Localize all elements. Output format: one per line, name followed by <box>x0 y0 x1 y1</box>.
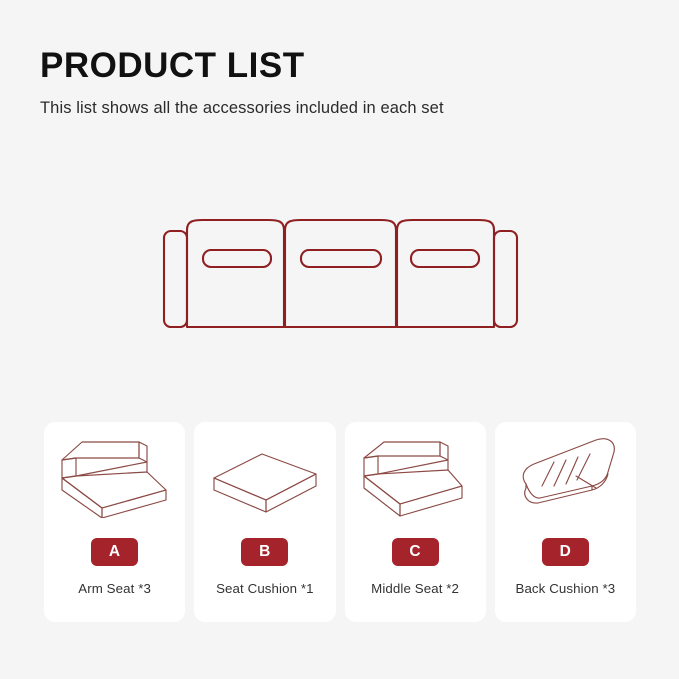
sofa-seat-cushion-1 <box>203 250 271 267</box>
badge-d: D <box>542 538 589 566</box>
sofa-seat-cushion-2 <box>301 250 381 267</box>
accessory-card-b[interactable]: B Seat Cushion *1 <box>194 422 335 622</box>
card-label-c: Middle Seat *2 <box>371 581 459 596</box>
badge-c: C <box>392 538 439 566</box>
sofa-diagram <box>0 190 679 360</box>
sofa-seat-section-1 <box>187 220 284 327</box>
header: PRODUCT LIST This list shows all the acc… <box>40 47 600 118</box>
sofa-armrest-right <box>494 231 517 327</box>
card-label-d: Back Cushion *3 <box>515 581 615 596</box>
page-subtitle: This list shows all the accessories incl… <box>40 99 600 118</box>
arm-seat-icon <box>44 422 185 522</box>
sofa-seat-section-2 <box>285 220 396 327</box>
sofa-armrest-left <box>164 231 187 327</box>
badge-a: A <box>91 538 138 566</box>
accessory-card-list: A Arm Seat *3 B Seat Cushion *1 <box>44 422 636 622</box>
middle-seat-icon <box>345 422 486 522</box>
page-title: PRODUCT LIST <box>40 47 600 86</box>
accessory-card-c[interactable]: C Middle Seat *2 <box>345 422 486 622</box>
sofa-line-drawing <box>0 190 679 360</box>
badge-b: B <box>241 538 288 566</box>
seat-cushion-icon <box>194 422 335 522</box>
card-label-b: Seat Cushion *1 <box>216 581 314 596</box>
back-cushion-icon <box>495 422 636 522</box>
card-label-a: Arm Seat *3 <box>78 581 151 596</box>
product-list-infographic: PRODUCT LIST This list shows all the acc… <box>0 0 679 679</box>
sofa-seat-cushion-3 <box>411 250 479 267</box>
accessory-card-a[interactable]: A Arm Seat *3 <box>44 422 185 622</box>
sofa-seat-section-3 <box>397 220 494 327</box>
accessory-card-d[interactable]: D Back Cushion *3 <box>495 422 636 622</box>
